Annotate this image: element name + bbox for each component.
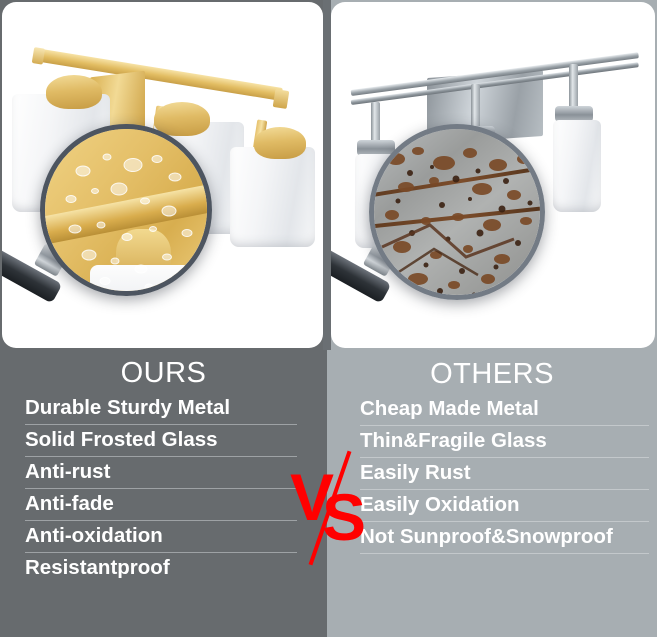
photo-cards-divider [323,0,331,350]
others-column: OTHERS Cheap Made Metal Thin&Fragile Gla… [327,352,657,554]
ours-column: OURS Durable Sturdy Metal Solid Frosted … [0,352,327,583]
ours-feature-row-5: Anti-oxidation [0,521,327,553]
ours-feature-label-4: Anti-fade [0,489,327,519]
others-feature-row-3: Easily Rust [327,458,657,490]
ours-feature-row-4: Anti-fade [0,489,327,521]
ours-feature-label-3: Anti-rust [0,457,327,487]
gold-socket-3 [254,127,306,159]
gold-socket-1 [46,75,102,109]
others-feature-row-1: Cheap Made Metal [327,394,657,426]
others-feature-row-2: Thin&Fragile Glass [327,426,657,458]
ours-feature-label-5: Anti-oxidation [0,521,327,551]
others-feature-label-1: Cheap Made Metal [327,394,657,424]
magnifier-lens-rust [369,124,545,300]
ours-feature-label-2: Solid Frosted Glass [0,425,327,455]
ours-feature-row-2: Solid Frosted Glass [0,425,327,457]
others-feature-list: Cheap Made Metal Thin&Fragile Glass Easi… [327,394,657,554]
ours-feature-row-1: Durable Sturdy Metal [0,393,327,425]
others-feature-rule-5 [360,553,649,554]
others-feature-row-5: Not Sunproof&Snowproof [327,522,657,554]
others-feature-label-4: Easily Oxidation [327,490,657,520]
others-feature-label-3: Easily Rust [327,458,657,488]
ours-feature-list: Durable Sturdy Metal Solid Frosted Glass… [0,393,327,583]
ours-photo-card [2,2,323,348]
ours-title: OURS [0,352,327,388]
others-feature-label-2: Thin&Fragile Glass [327,426,657,456]
magnifier-lens-gold [40,124,212,296]
nickel-glass-shade-3 [553,120,601,212]
ours-feature-label-6: Resistantproof [0,553,327,583]
ours-feature-label-1: Durable Sturdy Metal [0,393,327,423]
gold-glass-shade-3 [230,147,315,247]
nickel-stem-3 [569,64,578,112]
others-title: OTHERS [327,352,657,389]
water-droplets-overlay [45,129,212,296]
others-photo-card [331,2,655,348]
others-feature-label-5: Not Sunproof&Snowproof [327,522,657,552]
gold-rail-end-cap-right [273,89,290,109]
ours-feature-row-6: Resistantproof [0,553,327,583]
ours-feature-row-3: Anti-rust [0,457,327,489]
nickel-fixture-illustration [331,2,655,348]
others-feature-row-4: Easily Oxidation [327,490,657,522]
gold-fixture-illustration [2,2,323,348]
nickel-stem-2 [471,84,480,130]
rust-corrosion-overlay [374,129,545,300]
